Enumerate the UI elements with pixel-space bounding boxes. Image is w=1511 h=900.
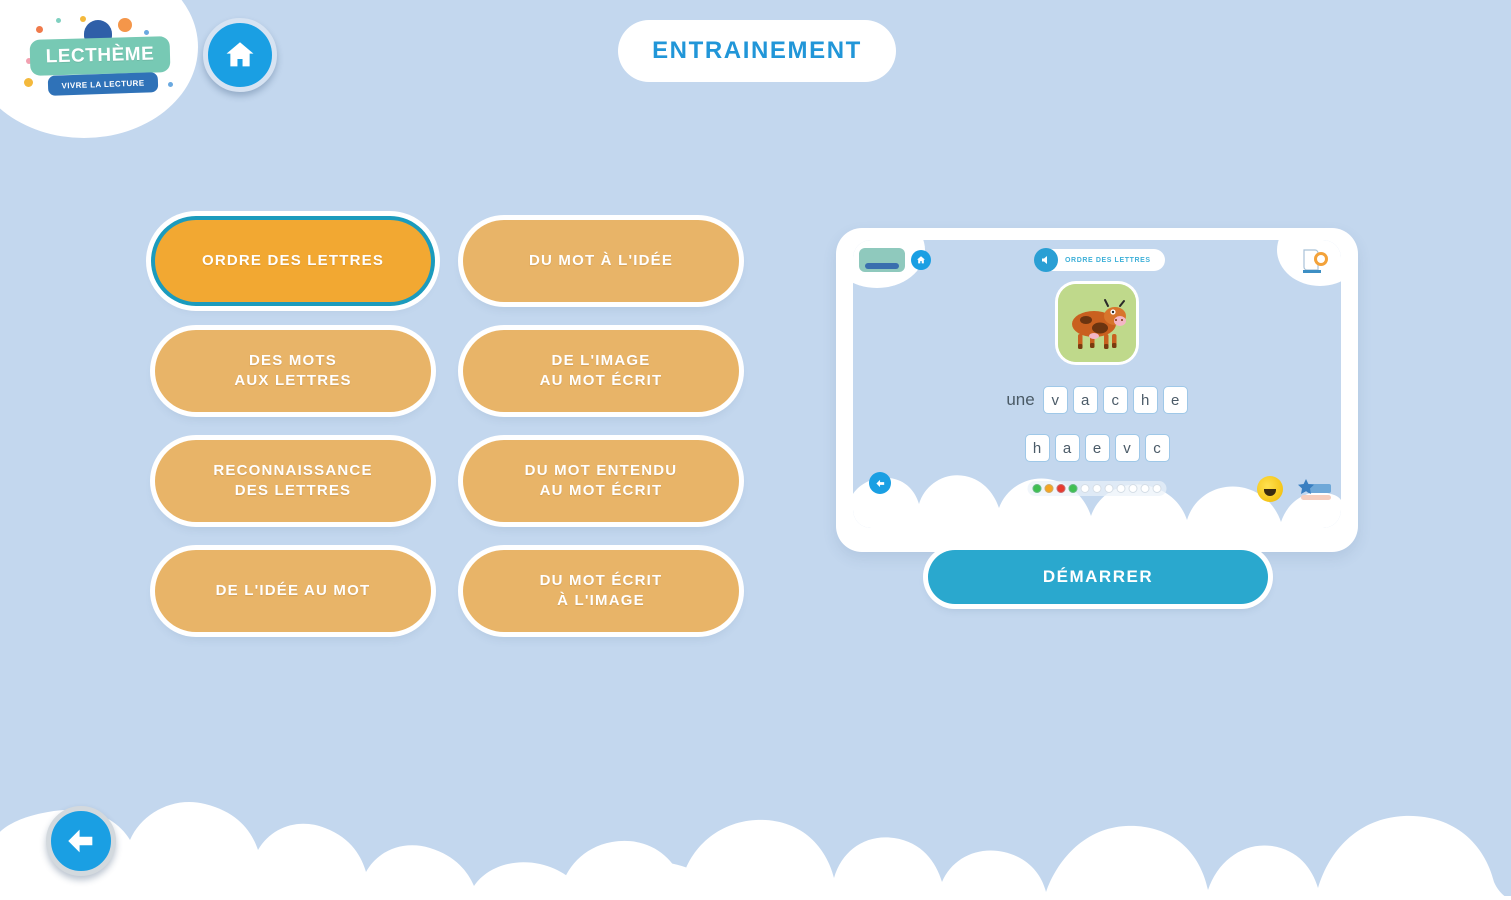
preview-home-button[interactable] <box>911 250 931 270</box>
speaker-icon <box>1040 254 1052 266</box>
activity-label: DE L'IMAGE AU MOT ÉCRIT <box>530 351 673 392</box>
answer-letter-tile[interactable]: v <box>1043 386 1068 414</box>
activity-preview-screen: ORDRE DES LETTRES <box>853 240 1341 528</box>
cow-picture-icon <box>1058 284 1136 362</box>
logo-name: LECTHÈME <box>30 36 171 76</box>
preview-speaker-button[interactable] <box>1034 248 1058 272</box>
activity-button-grid: ORDRE DES LETTRES DU MOT À L'IDÉE DES MO… <box>155 220 735 632</box>
activity-button-du-mot-a-lidee[interactable]: DU MOT À L'IDÉE <box>463 220 739 302</box>
preview-picture <box>1058 284 1136 362</box>
start-button[interactable]: DÉMARRER <box>928 550 1268 604</box>
answer-letter-tile[interactable]: c <box>1103 386 1128 414</box>
back-arrow-icon <box>64 824 98 858</box>
home-button[interactable] <box>203 18 277 92</box>
progress-dot <box>1129 484 1138 493</box>
app-logo[interactable]: LECTHÈME VIVRE LA LECTURE <box>22 16 180 102</box>
word-prefix: une <box>1006 390 1034 410</box>
answer-letter-tile[interactable]: a <box>1073 386 1098 414</box>
smiley-icon <box>1264 489 1276 496</box>
progress-dot <box>1153 484 1162 493</box>
preview-settings-button[interactable] <box>1299 246 1333 276</box>
bottom-cloud-decoration <box>0 700 1511 900</box>
preview-logo-icon <box>859 248 905 272</box>
preview-answer-row: une v a c h e <box>853 386 1341 414</box>
activity-label: DES MOTS AUX LETTRES <box>224 351 361 392</box>
logo-tagline: VIVRE LA LECTURE <box>48 72 159 96</box>
progress-dot <box>1105 484 1114 493</box>
activity-button-reconnaissance-des-lettres[interactable]: RECONNAISSANCE DES LETTRES <box>155 440 431 522</box>
progress-dot <box>1093 484 1102 493</box>
page-title: ENTRAINEMENT <box>618 20 896 82</box>
preview-mode-label: ORDRE DES LETTRES <box>1065 257 1151 264</box>
preview-smiley-button[interactable] <box>1257 476 1283 502</box>
activity-button-du-mot-ecrit-a-limage[interactable]: DU MOT ÉCRIT À L'IMAGE <box>463 550 739 632</box>
activity-button-des-mots-aux-lettres[interactable]: DES MOTS AUX LETTRES <box>155 330 431 412</box>
activity-label: DU MOT À L'IDÉE <box>519 251 683 271</box>
star-badge-icon <box>1295 478 1335 504</box>
activity-preview-card: ORDRE DES LETTRES <box>836 228 1358 552</box>
activity-label: DE L'IDÉE AU MOT <box>206 581 381 601</box>
home-icon <box>916 255 926 265</box>
progress-dot <box>1057 484 1066 493</box>
back-arrow-icon <box>875 478 886 489</box>
back-button[interactable] <box>46 806 116 876</box>
activity-button-ordre-des-lettres[interactable]: ORDRE DES LETTRES <box>155 220 431 302</box>
progress-dot <box>1045 484 1054 493</box>
activity-button-de-limage-au-mot-ecrit[interactable]: DE L'IMAGE AU MOT ÉCRIT <box>463 330 739 412</box>
progress-dot <box>1141 484 1150 493</box>
activity-label: RECONNAISSANCE DES LETTRES <box>203 461 382 502</box>
activity-button-du-mot-entendu-au-mot-ecrit[interactable]: DU MOT ENTENDU AU MOT ÉCRIT <box>463 440 739 522</box>
progress-dot <box>1069 484 1078 493</box>
progress-dots <box>1028 481 1167 496</box>
answer-letter-tile[interactable]: e <box>1163 386 1188 414</box>
activity-label: DU MOT ÉCRIT À L'IMAGE <box>530 571 673 612</box>
progress-dot <box>1117 484 1126 493</box>
activity-button-de-lidee-au-mot[interactable]: DE L'IDÉE AU MOT <box>155 550 431 632</box>
progress-dot <box>1081 484 1090 493</box>
preview-back-button[interactable] <box>869 472 891 494</box>
progress-dot <box>1033 484 1042 493</box>
activity-label: DU MOT ENTENDU AU MOT ÉCRIT <box>515 461 688 502</box>
preview-badge-button[interactable] <box>1295 478 1335 504</box>
activity-label: ORDRE DES LETTRES <box>192 251 394 271</box>
book-settings-icon <box>1299 246 1333 276</box>
home-icon <box>223 38 257 72</box>
answer-letter-tile[interactable]: h <box>1133 386 1158 414</box>
